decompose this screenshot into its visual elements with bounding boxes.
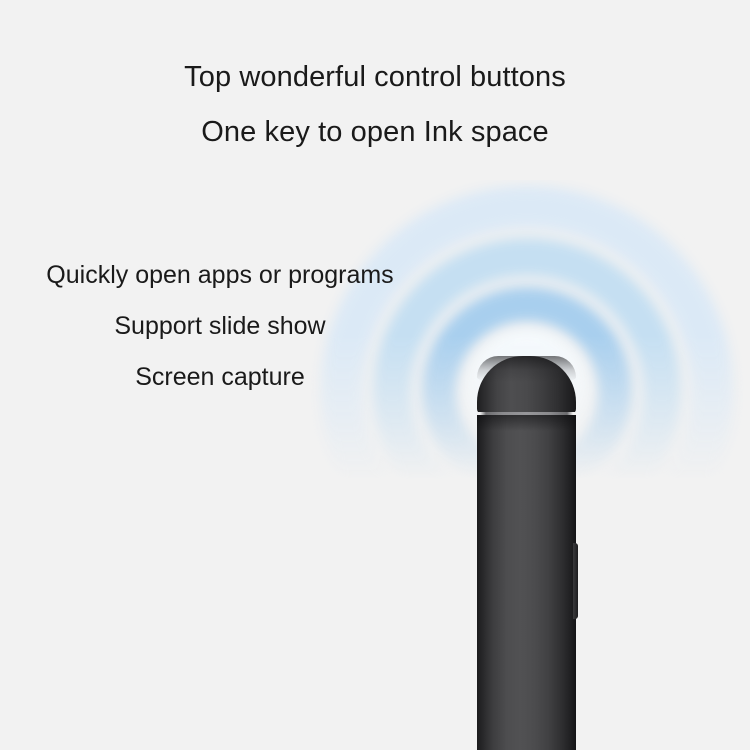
feature-list: Quickly open apps or programs Support sl… xyxy=(20,250,420,403)
stylus-pen xyxy=(477,356,576,750)
headline: Top wonderful control buttons One key to… xyxy=(0,50,750,160)
pen-barrel xyxy=(477,415,576,750)
product-marketing-image: Top wonderful control buttons One key to… xyxy=(0,0,750,750)
pen-side-button[interactable] xyxy=(573,543,578,619)
headline-line-2: One key to open Ink space xyxy=(0,105,750,160)
feature-item-slide-show: Support slide show xyxy=(20,301,420,352)
headline-line-1: Top wonderful control buttons xyxy=(0,50,750,105)
feature-item-open-apps: Quickly open apps or programs xyxy=(20,250,420,301)
pen-top-cap[interactable] xyxy=(477,356,576,414)
feature-item-screen-capture: Screen capture xyxy=(20,352,420,403)
